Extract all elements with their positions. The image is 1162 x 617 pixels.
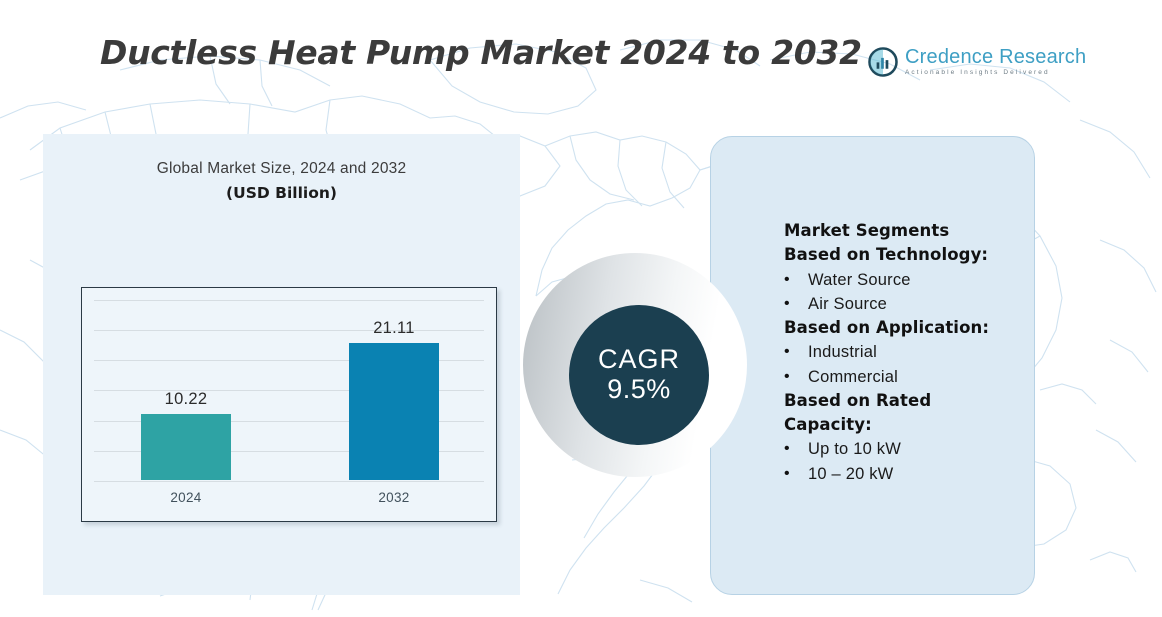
- bar-value-label: 21.11: [324, 319, 464, 338]
- gridline: [94, 481, 484, 482]
- gridline: [94, 300, 484, 301]
- segment-item-label: Commercial: [808, 365, 898, 389]
- chart-heading-units: (USD Billion): [43, 184, 520, 202]
- segment-item-label: Industrial: [808, 340, 877, 364]
- bar-value-label: 10.22: [116, 390, 256, 409]
- bullet-icon: •: [784, 437, 808, 461]
- segments-title: Market Segments: [784, 219, 1034, 243]
- segment-list-item: •Water Source: [784, 268, 1034, 292]
- logo-name: Credence Research: [905, 47, 1086, 67]
- segment-group-heading: Based on Rated: [784, 389, 1034, 413]
- page-title: Ductless Heat Pump Market 2024 to 2032: [100, 33, 862, 72]
- bullet-icon: •: [784, 292, 808, 316]
- credence-research-logo: Credence Research Actionable Insights De…: [868, 47, 1086, 77]
- credence-bar-chart-circle-icon: [868, 47, 898, 77]
- bullet-icon: •: [784, 268, 808, 292]
- segment-list-item: •Industrial: [784, 340, 1034, 364]
- bar-2024: [141, 414, 231, 480]
- logo-tagline: Actionable Insights Delivered: [905, 70, 1086, 77]
- segment-list-item: •Up to 10 kW: [784, 437, 1034, 461]
- bullet-icon: •: [784, 340, 808, 364]
- cagr-value: 9.5%: [607, 374, 671, 405]
- bullet-icon: •: [784, 462, 808, 486]
- segment-item-label: Water Source: [808, 268, 911, 292]
- cagr-badge: CAGR 9.5%: [569, 305, 709, 445]
- segment-item-label: Air Source: [808, 292, 887, 316]
- segment-list-item: •Commercial: [784, 365, 1034, 389]
- plot-area: 10.22202421.112032: [82, 288, 496, 521]
- segment-list-item: •Air Source: [784, 292, 1034, 316]
- segment-item-label: Up to 10 kW: [808, 437, 901, 461]
- market-segments-content: Market Segments Based on Technology:•Wat…: [784, 219, 1034, 486]
- segments-groups: Based on Technology:•Water Source•Air So…: [784, 243, 1034, 486]
- segment-group-heading: Based on Technology:: [784, 243, 1034, 267]
- bar-chart: 10.22202421.112032: [81, 287, 497, 522]
- infographic-canvas: Ductless Heat Pump Market 2024 to 2032 C…: [0, 0, 1162, 617]
- logo-text: Credence Research Actionable Insights De…: [905, 47, 1086, 77]
- segment-list-item: •10 – 20 kW: [784, 462, 1034, 486]
- segment-group-heading: Based on Application:: [784, 316, 1034, 340]
- bar-2032: [349, 343, 439, 480]
- x-axis-label: 2024: [116, 490, 256, 505]
- chart-heading: Global Market Size, 2024 and 2032 (USD B…: [43, 160, 520, 202]
- chart-heading-line1: Global Market Size, 2024 and 2032: [43, 160, 520, 178]
- segment-group-heading-cont: Capacity:: [784, 413, 1034, 437]
- bullet-icon: •: [784, 365, 808, 389]
- cagr-label: CAGR: [598, 345, 680, 373]
- segment-item-label: 10 – 20 kW: [808, 462, 893, 486]
- x-axis-label: 2032: [324, 490, 464, 505]
